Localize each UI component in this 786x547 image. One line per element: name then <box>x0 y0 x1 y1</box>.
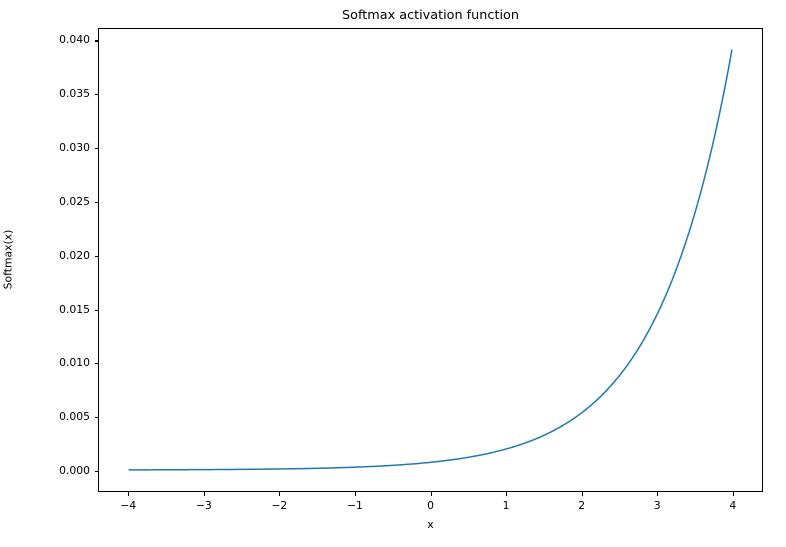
y-tick-label: 0.000 <box>10 464 90 477</box>
y-tick-mark <box>95 256 99 257</box>
y-tick-mark <box>95 417 99 418</box>
softmax-curve-svg <box>99 29 762 491</box>
matplotlib-figure: Softmax activation function −4−3−2−10123… <box>0 0 786 547</box>
chart-title: Softmax activation function <box>98 8 763 24</box>
y-tick-mark <box>95 148 99 149</box>
x-axis-label: x <box>98 518 763 531</box>
y-tick-mark <box>95 310 99 311</box>
x-tick-label: 1 <box>476 499 536 512</box>
x-tick-mark <box>128 492 129 496</box>
x-tick-mark <box>355 492 356 496</box>
y-tick-label: 0.035 <box>10 87 90 100</box>
x-tick-mark <box>431 492 432 496</box>
x-tick-label: 3 <box>627 499 687 512</box>
y-tick-label: 0.020 <box>10 249 90 262</box>
x-tick-label: 0 <box>401 499 461 512</box>
y-tick-label: 0.005 <box>10 410 90 423</box>
y-tick-mark <box>95 40 99 41</box>
plot-axes <box>98 28 763 492</box>
y-tick-label: 0.015 <box>10 303 90 316</box>
x-tick-label: −1 <box>325 499 385 512</box>
x-tick-label: 2 <box>552 499 612 512</box>
y-tick-label: 0.025 <box>10 195 90 208</box>
x-tick-mark <box>204 492 205 496</box>
y-tick-mark <box>95 202 99 203</box>
y-tick-mark <box>95 363 99 364</box>
y-tick-label: 0.010 <box>10 356 90 369</box>
y-tick-mark <box>95 94 99 95</box>
y-axis-label-text: Softmax(x) <box>2 200 15 320</box>
x-tick-label: −3 <box>174 499 234 512</box>
x-tick-mark <box>506 492 507 496</box>
softmax-line-series <box>129 50 732 470</box>
x-tick-mark <box>657 492 658 496</box>
x-tick-mark <box>733 492 734 496</box>
x-tick-label: −4 <box>98 499 158 512</box>
x-tick-label: −2 <box>249 499 309 512</box>
x-tick-mark <box>279 492 280 496</box>
y-axis-label: Softmax(x) <box>0 28 16 492</box>
y-tick-mark <box>95 471 99 472</box>
y-tick-label: 0.040 <box>10 33 90 46</box>
x-tick-mark <box>582 492 583 496</box>
y-tick-label: 0.030 <box>10 141 90 154</box>
x-tick-label: 4 <box>703 499 763 512</box>
